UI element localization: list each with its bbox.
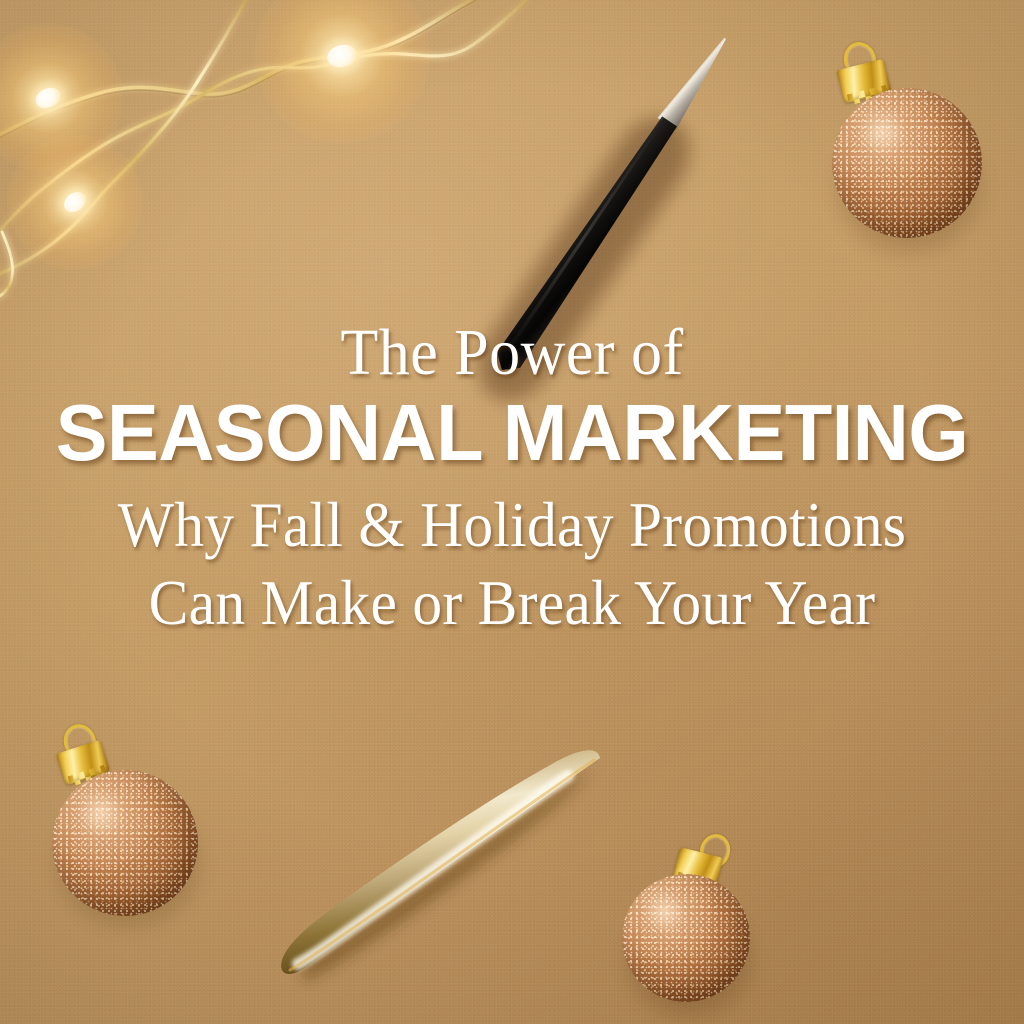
gold-cone-edge-warm bbox=[290, 760, 594, 970]
ornament-ball bbox=[832, 88, 982, 238]
ornament-ball bbox=[622, 874, 750, 1002]
fairy-wire-upper bbox=[0, 0, 486, 145]
headline-eyebrow: The Power of bbox=[31, 318, 994, 388]
fairy-wire-middle bbox=[0, 0, 536, 246]
ornament-shading bbox=[622, 874, 750, 1002]
social-graphic-canvas: The Power of SEASONAL MARKETING Why Fall… bbox=[0, 0, 1024, 1024]
headline-block: The Power of SEASONAL MARKETING Why Fall… bbox=[0, 318, 1024, 642]
ornament-shading bbox=[52, 770, 198, 916]
gold-cone-shadow bbox=[302, 770, 590, 982]
ornament-ball bbox=[52, 770, 198, 916]
gold-tapered-stylus bbox=[268, 742, 620, 992]
headline-main-title: SEASONAL MARKETING bbox=[15, 390, 1008, 476]
ornament-top-right bbox=[818, 40, 998, 260]
ornament-shading bbox=[832, 88, 982, 238]
ornament-bottom-left bbox=[40, 720, 220, 932]
ornament-bottom-right bbox=[612, 834, 776, 1024]
fairy-wire-lower bbox=[0, 0, 250, 280]
fairy-wire-tail bbox=[0, 232, 13, 300]
headline-subtitle-line-2: Can Make or Break Your Year bbox=[36, 564, 988, 642]
headline-subtitle-line-1: Why Fall & Holiday Promotions bbox=[36, 486, 988, 564]
